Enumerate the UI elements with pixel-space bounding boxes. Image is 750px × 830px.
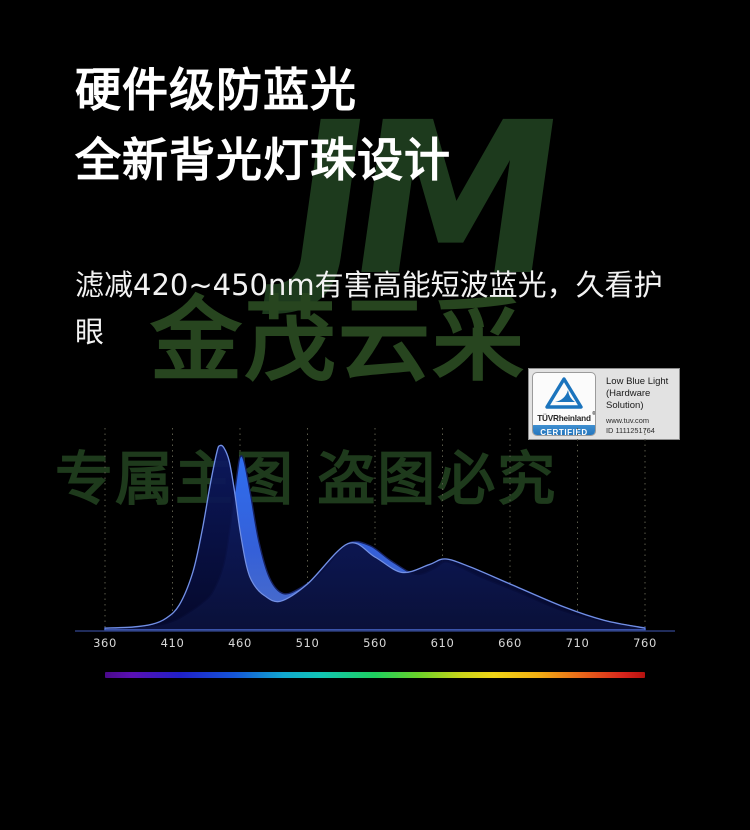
chart-x-axis: 360410460510560610660710760 [75,636,675,660]
chart-plot-area [75,428,675,638]
registered-icon: ® [592,410,595,419]
x-axis-tick-label: 360 [93,636,117,650]
tuv-triangle-icon [544,377,584,414]
x-axis-tick-label: 560 [363,636,387,650]
badge-website: www.tuv.com [606,416,673,426]
spectral-power-distribution-chart: 360410460510560610660710760 [75,428,675,696]
x-axis-tick-label: 410 [161,636,185,650]
tuv-rheinland-wordmark: TÜVRheinland® [537,414,591,423]
visible-light-spectrum-bar [105,672,645,678]
chart-svg [75,428,675,638]
x-axis-tick-label: 460 [228,636,252,650]
tuv-wordmark-text: TÜVRheinland [537,414,591,423]
x-axis-tick-label: 510 [296,636,320,650]
x-axis-tick-label: 660 [498,636,522,650]
badge-title: Low Blue Light (Hardware Solution) [606,376,673,412]
tuv-logo-card: TÜVRheinland® CERTIFIED [532,372,596,436]
headings-block: 硬件级防蓝光 全新背光灯珠设计 [75,55,451,195]
x-axis-tick-label: 610 [431,636,455,650]
x-axis-tick-label: 760 [633,636,657,650]
heading-line-1: 硬件级防蓝光 [75,55,451,125]
x-axis-tick-label: 710 [566,636,590,650]
heading-line-2: 全新背光灯珠设计 [75,125,451,195]
subtitle-text: 滤减420~450nm有害高能短波蓝光，久看护眼 [75,262,685,356]
